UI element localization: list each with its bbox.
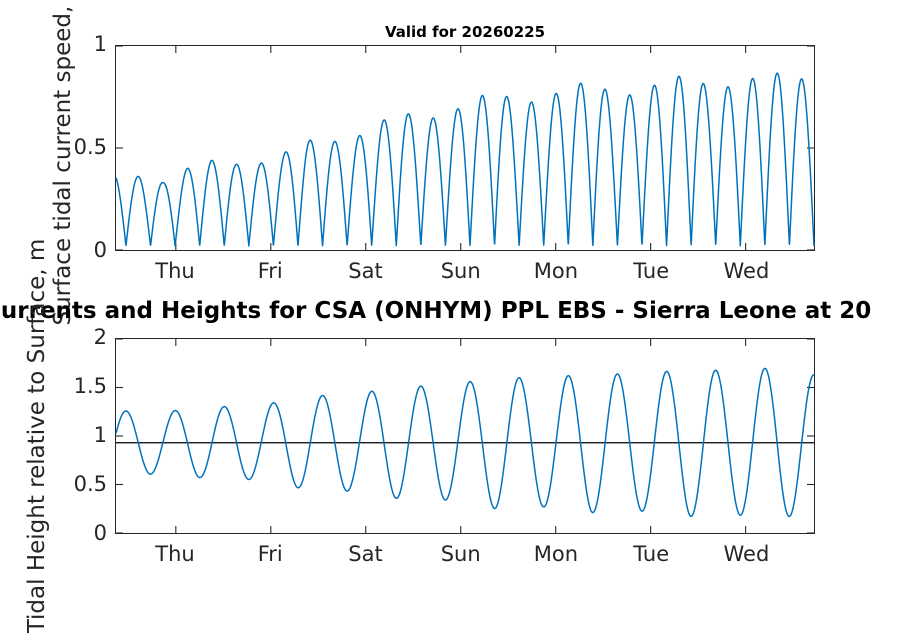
ytick-label-bottom-1: 0.5 bbox=[74, 474, 107, 495]
xtick-label-top-fri: Fri bbox=[225, 261, 315, 282]
axes-tidal-height bbox=[115, 338, 815, 534]
ytick-label-top-2: 1 bbox=[94, 34, 107, 55]
ytick-label-top-1: 0.5 bbox=[74, 137, 107, 158]
ytick-label-bottom-2: 1 bbox=[94, 425, 107, 446]
xtick-label-top-mon: Mon bbox=[511, 261, 601, 282]
ytick-label-bottom-0: 0 bbox=[94, 523, 107, 544]
xtick-label-bottom-thu: Thu bbox=[130, 544, 220, 565]
xtick-label-top-thu: Thu bbox=[130, 261, 220, 282]
xtick-label-top-sun: Sun bbox=[416, 261, 506, 282]
xtick-label-top-tue: Tue bbox=[606, 261, 696, 282]
ytick-label-bottom-3: 1.5 bbox=[74, 376, 107, 397]
xtick-label-bottom-mon: Mon bbox=[511, 544, 601, 565]
xtick-label-bottom-tue: Tue bbox=[606, 544, 696, 565]
figure-super-title: Currents and Heights for CSA (ONHYM) PPL… bbox=[0, 300, 871, 323]
tidal-height-plot-line bbox=[116, 339, 814, 533]
xtick-label-top-wed: Wed bbox=[701, 261, 791, 282]
ylabel-surface-tidal-current-speed: Surface tidal current speed, kn bbox=[52, 0, 75, 326]
axes-title-valid-for: Valid for 20260225 bbox=[115, 25, 815, 40]
axes-tidal-current-speed bbox=[115, 45, 815, 251]
ylabel-tidal-height-relative-to-surface: Tidal Height relative to Surface, m bbox=[26, 239, 49, 633]
tidal-current-speed-plot-line bbox=[116, 46, 814, 250]
xtick-label-bottom-sun: Sun bbox=[416, 544, 506, 565]
xtick-label-bottom-fri: Fri bbox=[225, 544, 315, 565]
tidal-figure: Valid for 20260225 Surface tidal current… bbox=[0, 0, 900, 600]
xtick-label-bottom-wed: Wed bbox=[701, 544, 791, 565]
ytick-label-bottom-4: 2 bbox=[94, 327, 107, 348]
ytick-label-top-0: 0 bbox=[94, 240, 107, 261]
xtick-label-bottom-sat: Sat bbox=[320, 544, 410, 565]
xtick-label-top-sat: Sat bbox=[320, 261, 410, 282]
